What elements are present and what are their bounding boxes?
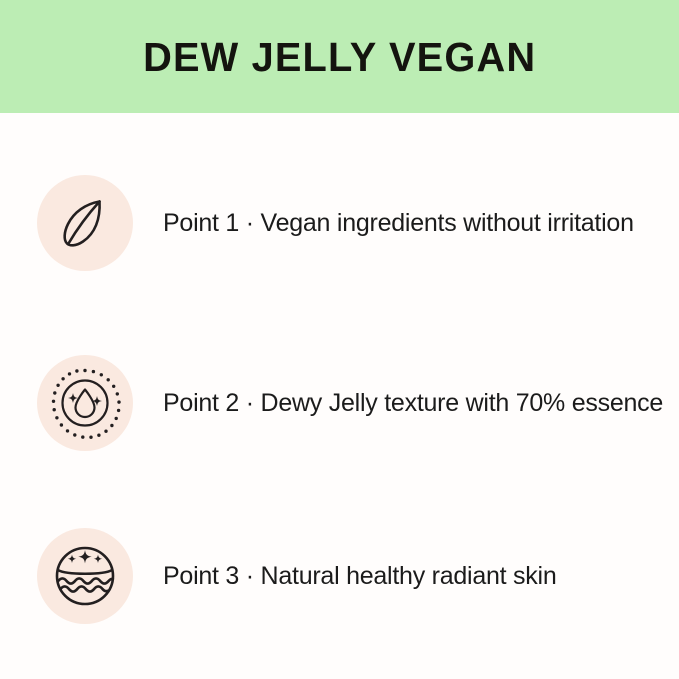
- list-item: Point 3 · Natural healthy radiant skin: [0, 516, 679, 636]
- list-item: Point 2 · Dewy Jelly texture with 70% es…: [0, 343, 679, 463]
- water-droplet-sparkle-icon-badge: [37, 355, 133, 451]
- leaf-icon-badge: [37, 175, 133, 271]
- header-band: DEW JELLY VEGAN: [0, 0, 679, 113]
- list-item: Point 1 · Vegan ingredients without irri…: [0, 163, 679, 283]
- list-item-label: Point 2 · Dewy Jelly texture with 70% es…: [163, 388, 663, 418]
- points-list: Point 1 · Vegan ingredients without irri…: [0, 113, 679, 679]
- water-droplet-sparkle-icon: [48, 366, 122, 440]
- leaf-icon: [50, 188, 120, 258]
- list-item-label: Point 1 · Vegan ingredients without irri…: [163, 208, 634, 238]
- page-title: DEW JELLY VEGAN: [143, 37, 536, 78]
- radiant-skin-globe-icon-badge: [37, 528, 133, 624]
- radiant-skin-globe-icon: [51, 542, 119, 610]
- product-feature-card: DEW JELLY VEGAN Point 1 · Vegan ingredie…: [0, 0, 679, 679]
- list-item-label: Point 3 · Natural healthy radiant skin: [163, 561, 557, 591]
